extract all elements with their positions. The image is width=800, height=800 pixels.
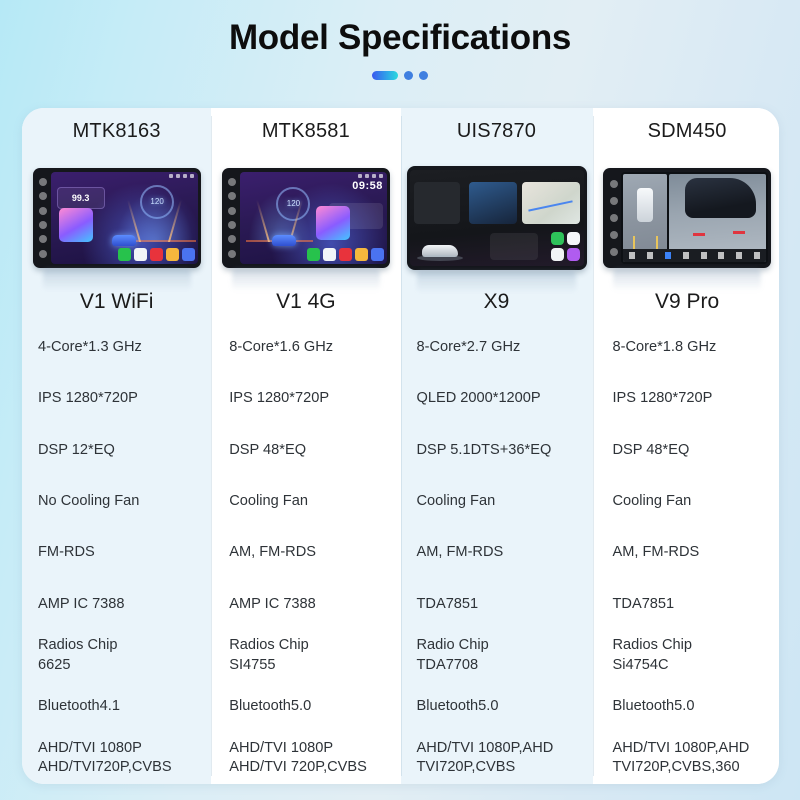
spec-cooling: Cooling Fan (211, 476, 400, 527)
spec-amp-ic: TDA7851 (401, 579, 593, 630)
device-reflection (43, 269, 191, 291)
chipset-label: MTK8581 (211, 108, 400, 154)
car-stereo-mockup (603, 168, 771, 268)
album-art-thumbnail (316, 206, 350, 240)
spec-camera-input: AHD/TVI 1080P,AHD TVI720P,CVBS,360 (593, 733, 780, 784)
device-image-v1-wifi: 99.3 120 (22, 154, 211, 282)
spec-radio-chip: Radios Chip Si4754C (593, 630, 780, 681)
spec-radio-band: AM, FM-RDS (593, 527, 780, 578)
spec-bluetooth: Bluetooth5.0 (211, 681, 400, 732)
app-dock (118, 248, 195, 261)
spec-dsp: DSP 48*EQ (593, 425, 780, 476)
screen-side-buttons (225, 172, 240, 264)
page-header: Model Specifications (0, 0, 800, 80)
spec-radio-chip: Radios Chip 6625 (22, 630, 211, 681)
spec-radio-band: FM-RDS (22, 527, 211, 578)
screen-side-buttons (606, 172, 621, 264)
clock-widget: 09:58 (352, 180, 383, 192)
info-tile-left (414, 182, 461, 224)
spec-column-sdm450[interactable]: SDM450 (593, 108, 780, 784)
app-dock (307, 248, 384, 261)
spec-radio-chip: Radios Chip SI4755 (211, 630, 400, 681)
spec-list: 8-Core*2.7 GHz QLED 2000*1200P DSP 5.1DT… (401, 322, 593, 784)
spec-dsp: DSP 48*EQ (211, 425, 400, 476)
spec-bluetooth: Bluetooth5.0 (593, 681, 780, 732)
app-grid (551, 232, 580, 261)
specifications-table: MTK8163 99.3 120 V1 WiFi 4-Cor (22, 108, 779, 784)
spec-dsp: DSP 5.1DTS+36*EQ (401, 425, 593, 476)
birdseye-view-icon[interactable] (665, 252, 671, 259)
screen-content (621, 172, 768, 264)
distance-marker-1 (693, 233, 705, 236)
spec-amp-ic: TDA7851 (593, 579, 780, 630)
media-tile-center (469, 182, 518, 224)
camera-view-toolbar[interactable] (623, 249, 766, 262)
spec-cooling: Cooling Fan (593, 476, 780, 527)
car-stereo-mockup: 09:58 120 (222, 168, 390, 268)
car-graphic (112, 235, 136, 246)
screen-side-buttons (36, 172, 51, 264)
device-image-v9-pro (593, 154, 780, 282)
spec-list: 8-Core*1.8 GHz IPS 1280*720P DSP 48*EQ C… (593, 322, 780, 784)
rear-view-icon[interactable] (718, 252, 724, 259)
spec-bluetooth: Bluetooth5.0 (401, 681, 593, 732)
spec-cpu: 8-Core*1.8 GHz (593, 322, 780, 373)
carousel-dot-3[interactable] (419, 71, 428, 80)
screen-content (410, 170, 584, 266)
spec-amp-ic: AMP IC 7388 (211, 579, 400, 630)
left-view-icon[interactable] (683, 252, 689, 259)
adjacent-car-graphic (685, 178, 757, 218)
spec-cpu: 8-Core*2.7 GHz (401, 322, 593, 373)
spec-cpu: 4-Core*1.3 GHz (22, 322, 211, 373)
spec-display: IPS 1280*720P (211, 373, 400, 424)
car-stereo-mockup (407, 166, 587, 270)
device-image-v1-4g: 09:58 120 (211, 154, 400, 282)
carousel-indicator[interactable] (0, 70, 800, 80)
car-graphic (422, 245, 458, 257)
car-top-view-graphic (637, 188, 653, 222)
spec-display: IPS 1280*720P (22, 373, 211, 424)
spec-camera-input: AHD/TVI 1080P AHD/TVI 720P,CVBS (211, 733, 400, 784)
device-reflection (613, 269, 761, 291)
spec-display: IPS 1280*720P (593, 373, 780, 424)
spec-radio-chip: Radio Chip TDA7708 (401, 630, 593, 681)
spec-column-mtk8163[interactable]: MTK8163 99.3 120 V1 WiFi 4-Cor (22, 108, 211, 784)
album-art-thumbnail (59, 208, 93, 242)
spec-list: 4-Core*1.3 GHz IPS 1280*720P DSP 12*EQ N… (22, 322, 211, 784)
status-bar-icons (169, 174, 194, 178)
device-reflection (417, 271, 575, 293)
spec-bluetooth: Bluetooth4.1 (22, 681, 211, 732)
spec-cooling: Cooling Fan (401, 476, 593, 527)
right-view-icon[interactable] (701, 252, 707, 259)
carousel-dot-2[interactable] (404, 71, 413, 80)
front-view-icon[interactable] (647, 252, 653, 259)
spec-camera-input: AHD/TVI 1080P,AHD TVI720P,CVBS (401, 733, 593, 784)
radio-frequency-tile: 99.3 (57, 187, 105, 209)
page-title: Model Specifications (0, 18, 800, 58)
camera-icon[interactable] (629, 252, 635, 259)
spec-cooling: No Cooling Fan (22, 476, 211, 527)
device-image-x9 (401, 154, 593, 282)
distance-marker-2 (733, 231, 745, 234)
settings-icon[interactable] (754, 252, 760, 259)
device-reflection (232, 269, 380, 291)
car-stereo-mockup: 99.3 120 (33, 168, 201, 268)
spec-radio-band: AM, FM-RDS (211, 527, 400, 578)
screen-content: 99.3 120 (51, 172, 198, 264)
chipset-label: UIS7870 (401, 108, 593, 154)
spec-camera-input: AHD/TVI 1080P AHD/TVI720P,CVBS (22, 733, 211, 784)
spec-amp-ic: AMP IC 7388 (22, 579, 211, 630)
spec-column-uis7870[interactable]: UIS7870 X9 8-Core*2.7 GHz QLED 2000*1200… (401, 108, 593, 784)
spec-list: 8-Core*1.6 GHz IPS 1280*720P DSP 48*EQ C… (211, 322, 400, 784)
spec-column-mtk8581[interactable]: MTK8581 09:58 120 V1 4G (211, 108, 400, 784)
spec-radio-band: AM, FM-RDS (401, 527, 593, 578)
screen-content: 09:58 120 (240, 172, 387, 264)
spec-dsp: DSP 12*EQ (22, 425, 211, 476)
spec-cpu: 8-Core*1.6 GHz (211, 322, 400, 373)
chipset-label: MTK8163 (22, 108, 211, 154)
map-tile (522, 182, 579, 224)
chipset-label: SDM450 (593, 108, 780, 154)
split-view-icon[interactable] (736, 252, 742, 259)
carousel-dot-active[interactable] (372, 71, 398, 80)
status-bar-icons (358, 174, 383, 178)
vehicle-data-panel (490, 233, 539, 260)
spec-display: QLED 2000*1200P (401, 373, 593, 424)
car-graphic (272, 235, 296, 246)
